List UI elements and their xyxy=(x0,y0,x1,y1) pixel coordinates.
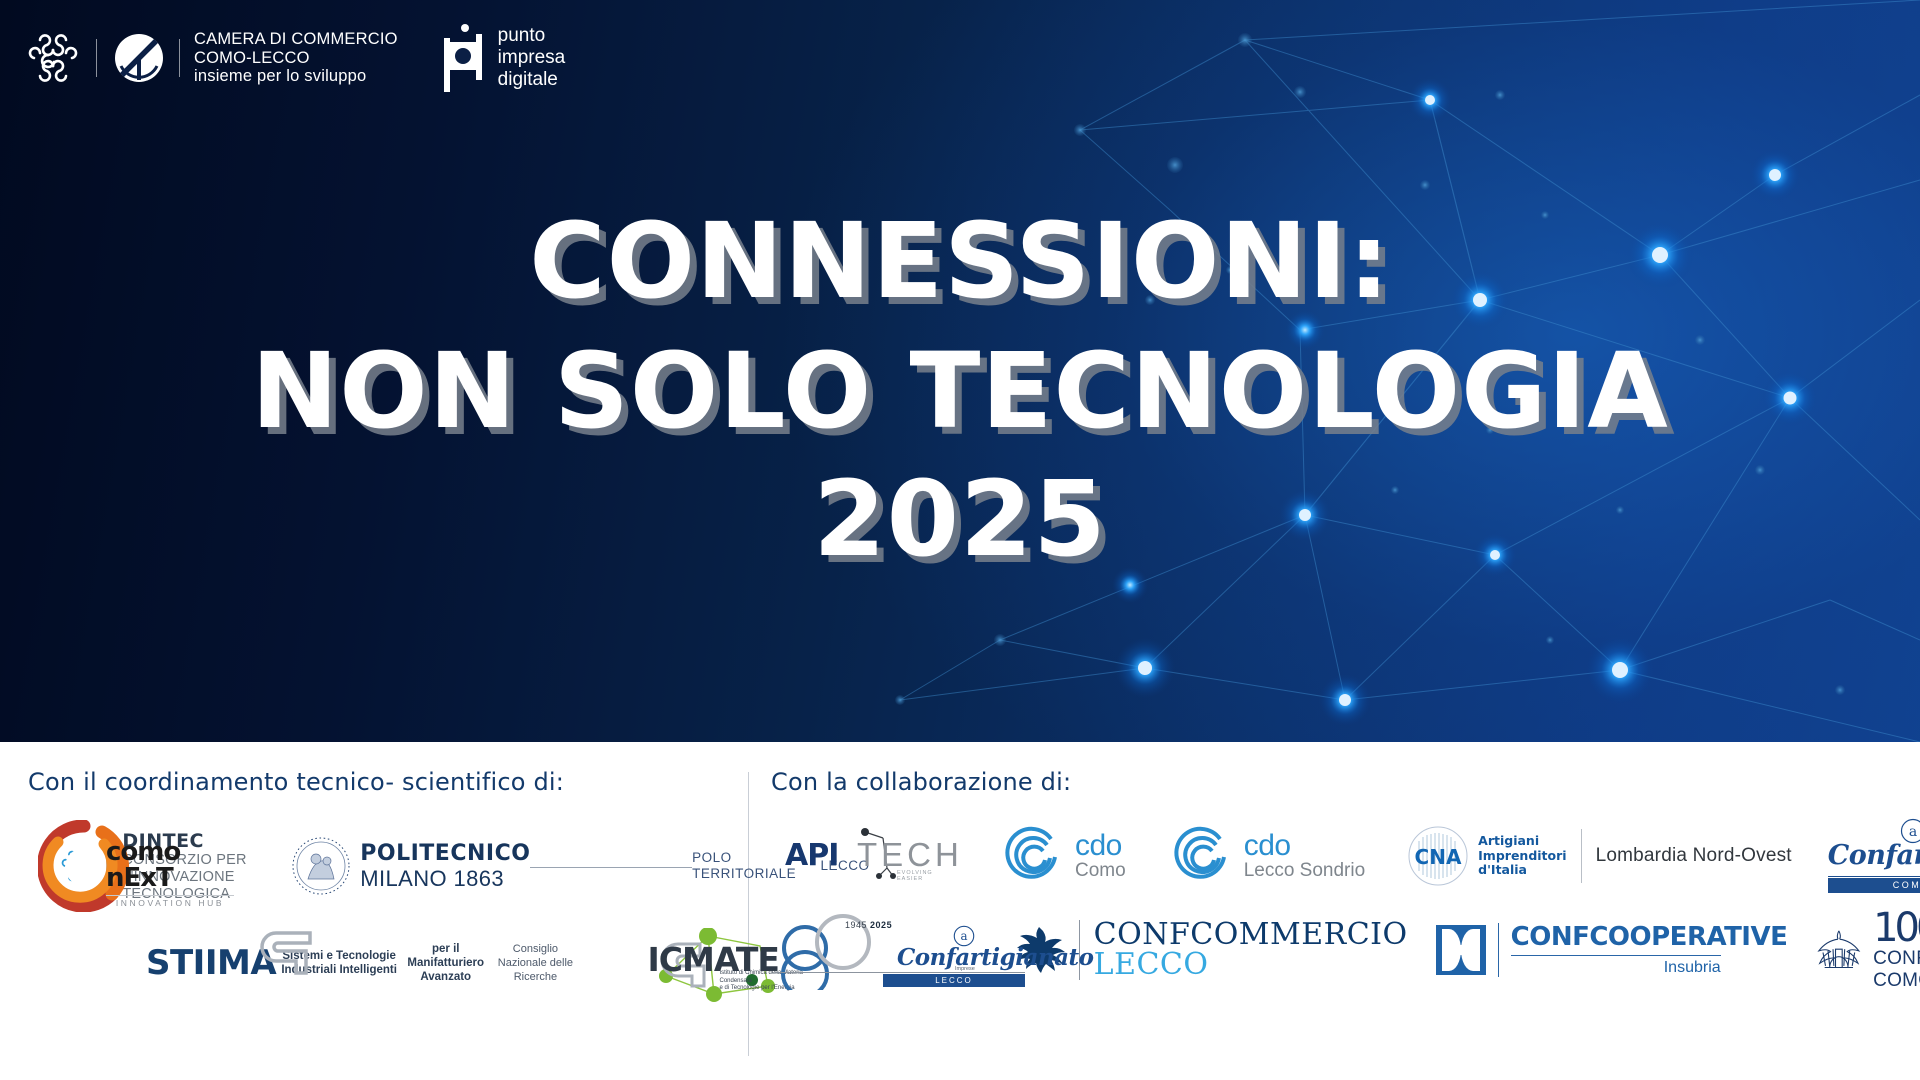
apitech-title-light: TECH xyxy=(857,836,963,874)
svg-text:a: a xyxy=(960,929,967,943)
comonext-text: como nExT INNOVATION HUB xyxy=(106,840,234,908)
header-divider-1 xyxy=(96,39,97,77)
pid-line-2: impresa xyxy=(498,47,566,69)
polimi-seal-icon xyxy=(290,835,352,897)
pid-text-block: punto impresa digitale xyxy=(498,25,566,91)
footer-left-heading: Con il coordinamento tecnico- scientific… xyxy=(28,768,748,796)
pid-monogram-icon xyxy=(442,22,486,94)
polimi-title-1: POLITECNICO xyxy=(360,842,530,866)
confcooperative-title: CONFCOOPERATIVE xyxy=(1511,923,1788,951)
cdo-como-subtitle: Como xyxy=(1075,860,1126,882)
header-logo-bar: CAMERA DI COMMERCIO COMO-LECCO insieme p… xyxy=(26,22,565,94)
pid-logo: punto impresa digitale xyxy=(442,22,566,94)
confcommercio-subtitle: LECCO xyxy=(1094,950,1408,980)
apitech-tagline: EVOLVING EASIER xyxy=(897,870,957,882)
logo-confartigianato-lecco: 1945 2025 a Confartigianato Imprese LECC… xyxy=(775,908,985,992)
cna-badge-icon: CNA xyxy=(1407,825,1469,887)
footer-left-logo-row-1: como nExT INNOVATION HUB xyxy=(28,818,748,914)
confartigianato-como-title: Confartigianato xyxy=(1828,840,1920,871)
logo-cna: CNA Artigiani Imprenditori d'Italia Lomb… xyxy=(1407,825,1792,887)
cna-title: CNA xyxy=(1415,845,1462,869)
logo-cdo-como: cdo Como xyxy=(1003,825,1126,887)
chamber-text-block: CAMERA DI COMMERCIO COMO-LECCO insieme p… xyxy=(194,30,398,86)
cdo-lecco-title: cdo xyxy=(1244,831,1365,860)
logo-confartigianato-como: a Confartigianato Imprese COMO xyxy=(1828,818,1920,894)
polimi-divider xyxy=(530,867,692,868)
cna-subtitle-3: d'Italia xyxy=(1478,863,1566,878)
stiima-mark-icon xyxy=(254,929,316,981)
cna-region: Lombardia Nord-Ovest xyxy=(1596,845,1792,867)
footer-right-logo-row-1: API TECH EVOLVING EASIER cdo Como xyxy=(771,818,1920,894)
comonext-title-top: como xyxy=(106,840,234,864)
confcooperative-mark-icon xyxy=(1434,923,1488,977)
title-line-1: CONNESSIONI: xyxy=(0,208,1920,314)
footer-right-column: Con la collaborazione di: API TECH EVOLV… xyxy=(749,742,1920,1080)
title-line-3: 2025 xyxy=(0,466,1920,572)
confindustria-como-title: CONFINDUSTRIA COMO xyxy=(1873,948,1920,992)
confcooperative-subtitle: Insubria xyxy=(1511,959,1721,977)
chamber-line-2: COMO-LECCO xyxy=(194,49,398,68)
comonext-title-bottom: nExT xyxy=(106,866,234,890)
logo-politecnico-milano: POLITECNICO MILANO 1863 POLO TERRITORIAL… xyxy=(290,835,869,897)
confartigianato-como-city: COMO xyxy=(1828,878,1920,893)
apitech-title-bold: API xyxy=(785,838,838,873)
rosette-icon xyxy=(26,30,80,86)
confcooperative-rule xyxy=(1511,955,1721,956)
anniv-from: 1945 xyxy=(845,920,867,930)
confartigianato-lecco-city: LECCO xyxy=(883,974,1025,987)
footer-right-heading: Con la collaborazione di: xyxy=(771,768,1920,796)
anniv-to: 2025 xyxy=(870,920,892,930)
cdo-como-title: cdo xyxy=(1075,831,1126,860)
hero-title: CONNESSIONI: NON SOLO TECNOLOGIA 2025 xyxy=(0,208,1920,572)
confcommercio-title: CONFCOMMERCIO xyxy=(1094,920,1408,950)
cna-subtitle-2: Imprenditori xyxy=(1478,849,1566,864)
logo-icmate: ICMATE Istituto di Chimica della Materia… xyxy=(648,928,749,998)
svg-text:a: a xyxy=(1909,824,1917,840)
pid-line-3: digitale xyxy=(498,69,566,91)
cna-divider xyxy=(1581,829,1582,883)
cdo-spiral-icon xyxy=(1172,825,1234,887)
logo-stiima: STIIMA Sistemi e Tecnologie Industriali … xyxy=(146,942,582,984)
stiima-subtitle-2: per il Manifatturiero Avanzato xyxy=(402,942,489,984)
cdo-spiral-icon xyxy=(1003,825,1065,887)
logo-confcooperative-insubria: CONFCOOPERATIVE Insubria xyxy=(1434,923,1788,977)
chamber-emblem-icon xyxy=(113,32,165,84)
confartigianato-como-rule xyxy=(1828,876,1920,877)
footer-left-logo-row-2: STIIMA Sistemi e Tecnologie Industriali … xyxy=(28,928,748,998)
polimi-title-2: MILANO 1863 xyxy=(360,866,530,891)
stiima-subtitle-3: Consiglio Nazionale delle Ricerche xyxy=(489,942,581,984)
logo-cdo-lecco-sondrio: cdo Lecco Sondrio xyxy=(1172,825,1365,887)
footer-right-logo-row-2: 1945 2025 a Confartigianato Imprese LECC… xyxy=(771,908,1920,992)
header-divider-2 xyxy=(179,39,180,77)
logo-confindustria-como: 100 DA CENT'ANNI NEL FUTURO CONFINDUSTRI… xyxy=(1813,909,1920,992)
footer-partners: Con il coordinamento tecnico- scientific… xyxy=(0,742,1920,1080)
confartigianato-lecco-rule xyxy=(775,972,1025,973)
confartigianato-lecco-title: Confartigianato xyxy=(897,944,1093,971)
confindustria-como-anniversary: 100 xyxy=(1873,909,1920,947)
footer-left-column: Con il coordinamento tecnico- scientific… xyxy=(0,742,748,1080)
confartigianato-lecco-anniversary: 1945 2025 xyxy=(845,920,892,930)
hero-banner: CAMERA DI COMMERCIO COMO-LECCO insieme p… xyxy=(0,0,1920,742)
chamber-line-3: insieme per lo sviluppo xyxy=(194,67,398,86)
cna-subtitle-1: Artigiani xyxy=(1478,834,1566,849)
title-line-2: NON SOLO TECNOLOGIA xyxy=(0,338,1920,444)
confindustria-eagle-icon xyxy=(1813,921,1865,979)
comonext-tagline: INNOVATION HUB xyxy=(106,895,234,908)
logo-apitech: API TECH EVOLVING EASIER xyxy=(785,826,957,886)
cdo-lecco-subtitle: Lecco Sondrio xyxy=(1244,860,1365,882)
pid-line-1: punto xyxy=(498,25,566,47)
chamber-line-1: CAMERA DI COMMERCIO xyxy=(194,30,398,49)
